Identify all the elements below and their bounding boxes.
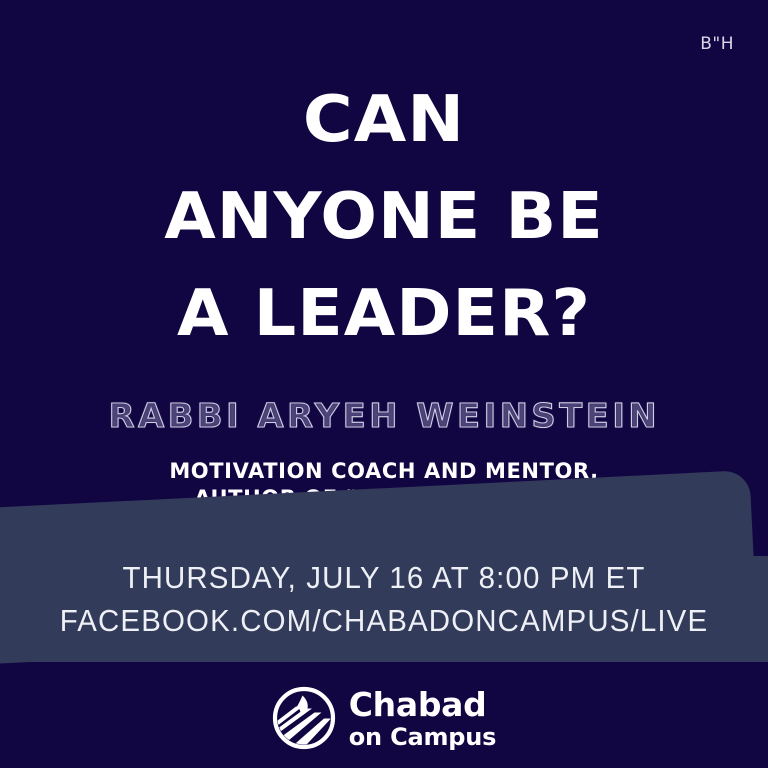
headline: CAN ANYONE BE A LEADER? (0, 72, 768, 363)
event-datetime: THURSDAY, JULY 16 AT 8:00 PM ET (19, 556, 749, 599)
chabad-wordmark: Chabad on Campus (349, 688, 497, 749)
speaker-name: RABBI ARYEH WEINSTEIN (0, 396, 768, 436)
event-url[interactable]: FACEBOOK.COM/CHABADONCAMPUS/LIVE (19, 599, 749, 642)
speaker-name-text: RABBI ARYEH WEINSTEIN (108, 396, 660, 436)
details-band: THURSDAY, JULY 16 AT 8:00 PM ET FACEBOOK… (0, 556, 768, 642)
headline-line-2: ANYONE BE (0, 169, 768, 266)
headline-line-3: A LEADER? (0, 266, 768, 363)
bh-mark: B"H (700, 36, 734, 53)
chabad-flame-circle-icon (272, 686, 336, 750)
headline-line-1: CAN (0, 72, 768, 169)
wordmark-chabad: Chabad (349, 688, 497, 721)
wordmark-on-campus: on Campus (349, 725, 497, 749)
chabad-on-campus-logo: Chabad on Campus (0, 686, 768, 750)
event-flyer: B"H CAN ANYONE BE A LEADER? RABBI ARYEH … (0, 0, 768, 768)
